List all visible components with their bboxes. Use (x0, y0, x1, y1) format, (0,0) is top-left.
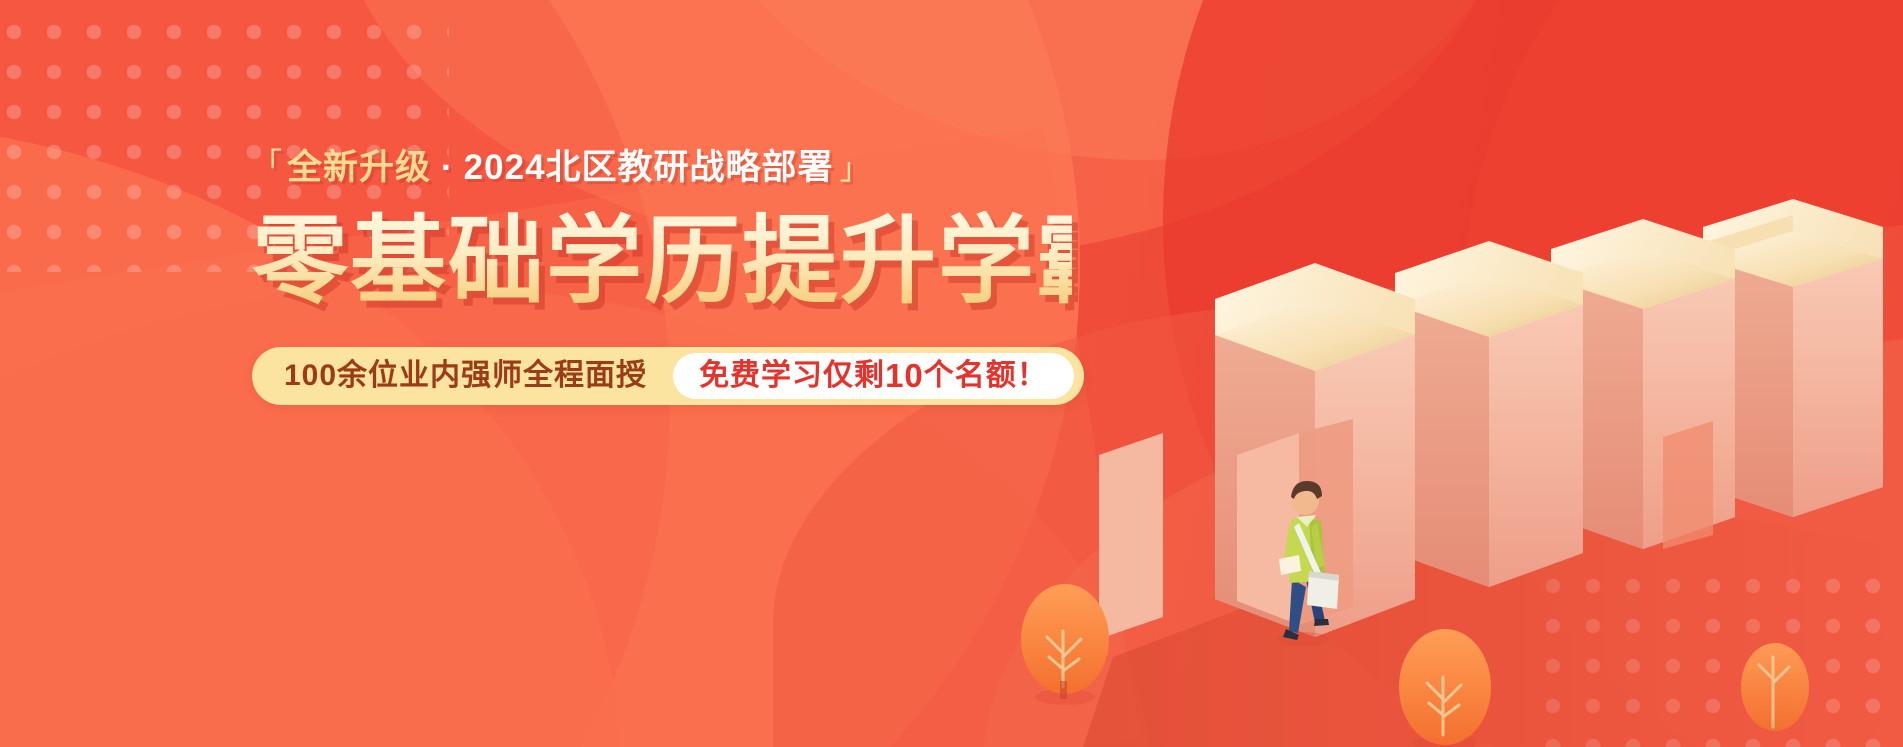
page-title: 零基础学历提升学霸班 (252, 211, 1072, 313)
pill-highlight-badge: 免费学习仅剩10个名额！ (673, 353, 1074, 399)
banner-feature-pill: 100余位业内强师全程面授 免费学习仅剩10个名额！ (252, 347, 1084, 405)
pill-highlight-suffix: 个名额！ (924, 361, 1048, 391)
kicker-gold-text: 全新升级 (287, 150, 431, 185)
pill-highlight-prefix: 免费学习仅剩 (699, 361, 885, 391)
pill-highlight-number: 10 (885, 359, 924, 392)
pill-left-label: 100余位业内强师全程面授 (284, 361, 673, 391)
kicker-separator-icon: · (441, 150, 454, 185)
promo-banner: 「 全新升级 · 2024北区教研战略部署 」 零基础学历提升学霸班 100余位… (0, 0, 1903, 747)
tree-left (1021, 584, 1109, 705)
book-archway-2 (1395, 241, 1583, 587)
kicker-bracket-left-icon: 「 (252, 150, 283, 180)
kicker-bracket-right-icon: 」 (840, 155, 871, 185)
banner-copy-block: 「 全新升级 · 2024北区教研战略部署 」 零基础学历提升学霸班 100余位… (252, 150, 1072, 405)
kicker-white-text: 2024北区教研战略部署 (464, 150, 834, 185)
tree-far-right (1741, 643, 1809, 731)
book-panel-left (1099, 433, 1163, 639)
banner-kicker: 「 全新升级 · 2024北区教研战略部署 」 (252, 150, 1072, 185)
